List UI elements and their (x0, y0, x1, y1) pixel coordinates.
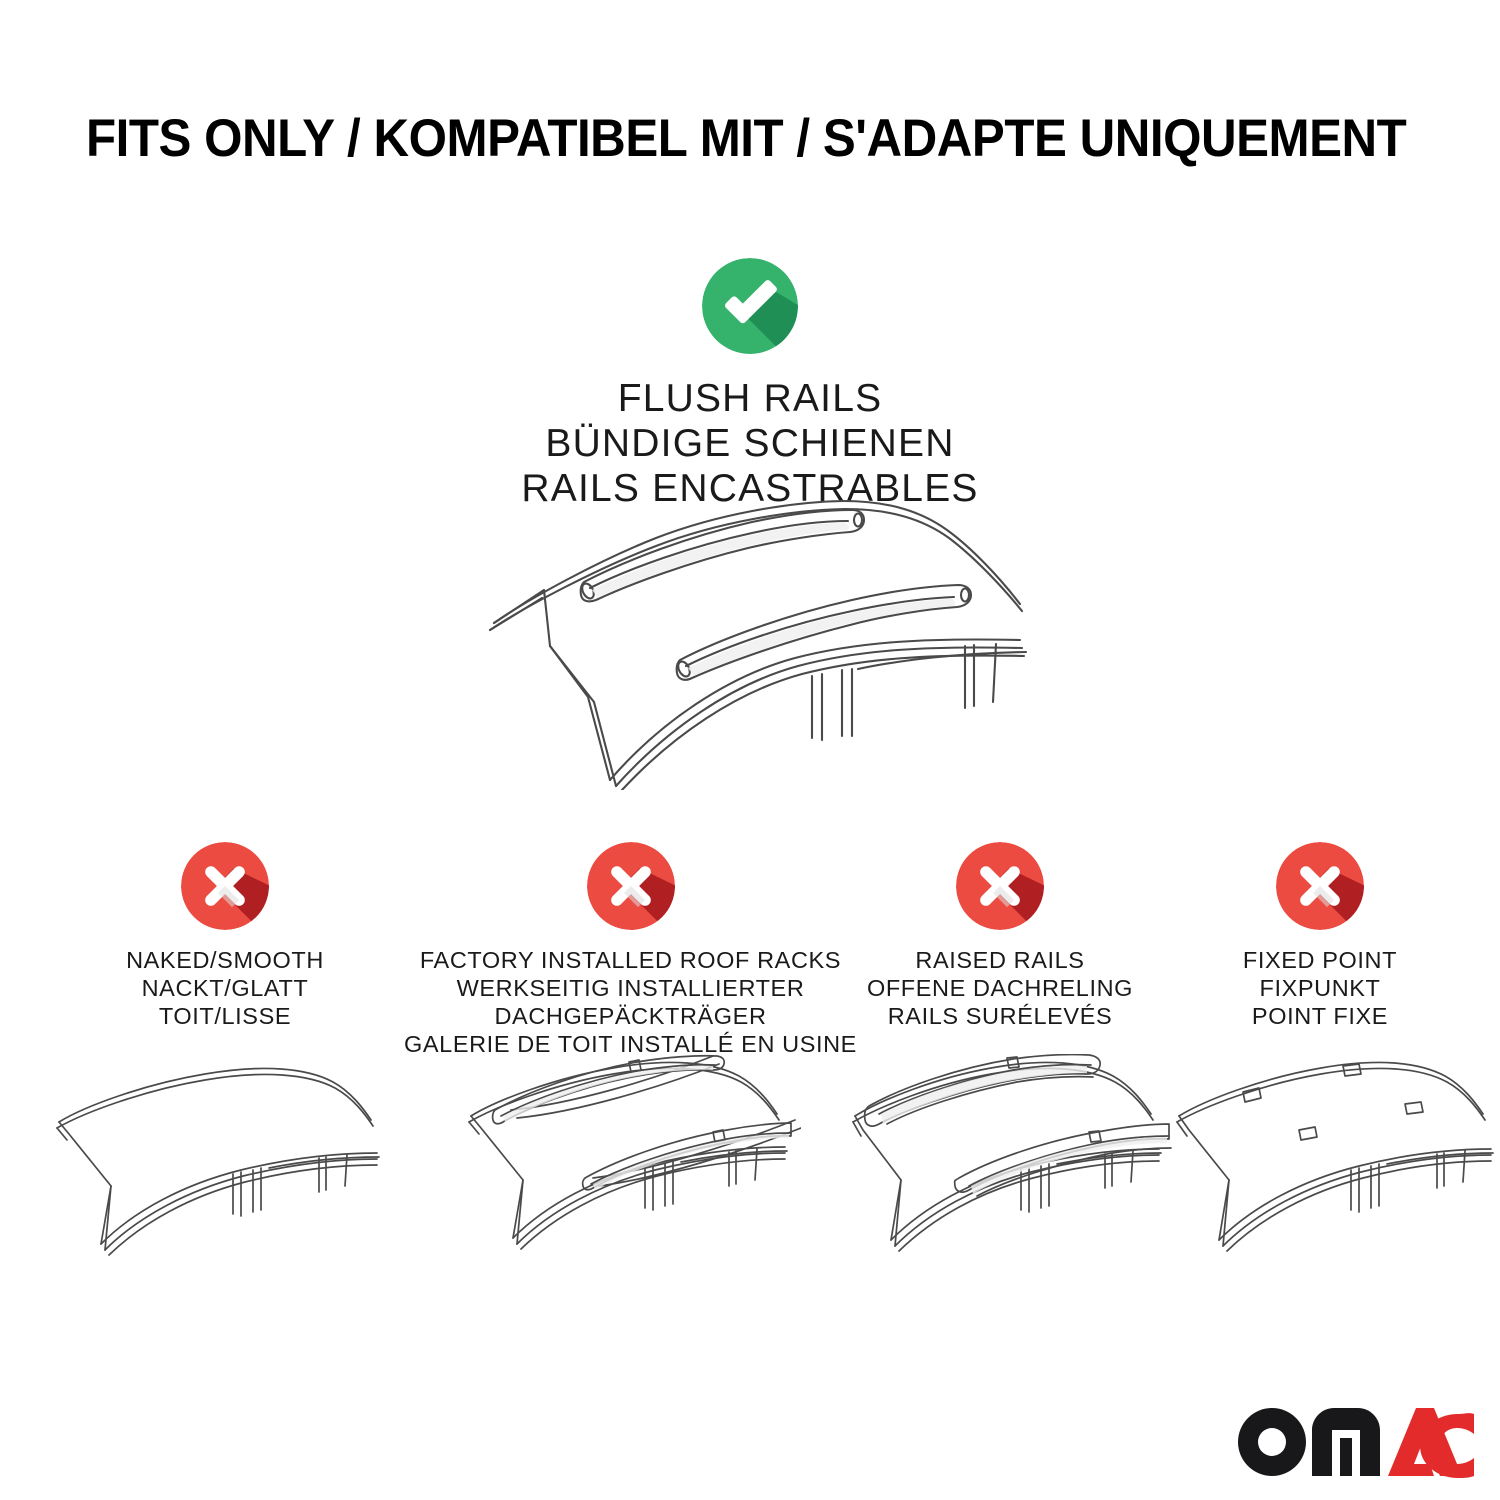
approved-label-line-2: BÜNDIGE SCHIENEN (0, 421, 1500, 466)
incompatible-label-line-2: OFFENE DACHRELING (835, 974, 1165, 1002)
incompatible-label: RAISED RAILS OFFENE DACHRELING RAILS SUR… (835, 946, 1165, 1030)
car-roof-raised-rails-illustration (835, 1054, 1165, 1289)
page-title: FITS ONLY / KOMPATIBEL MIT / S'ADAPTE UN… (86, 108, 1332, 170)
incompatible-label-line-2: FIXPUNKT (1165, 974, 1475, 1002)
x-circle-icon (1276, 842, 1364, 930)
check-circle-icon (702, 258, 798, 354)
incompatible-label: FIXED POINT FIXPUNKT POINT FIXE (1165, 946, 1475, 1030)
logo-letter-o (1238, 1408, 1306, 1476)
incompatible-item-naked-smooth: NAKED/SMOOTH NACKT/GLATT TOIT/LISSE (55, 842, 395, 1030)
incompatible-label-line-1: RAISED RAILS (835, 946, 1165, 974)
incompatible-label-line-2: WERKSEITIG INSTALLIERTER (398, 974, 863, 1002)
incompatible-label-line-1: FIXED POINT (1165, 946, 1475, 974)
approved-label-line-1: FLUSH RAILS (0, 376, 1500, 421)
incompatible-label-line-1: NAKED/SMOOTH (55, 946, 395, 974)
incompatible-label-line-1: FACTORY INSTALLED ROOF RACKS (398, 946, 863, 974)
incompatible-item-factory-racks: FACTORY INSTALLED ROOF RACKS WERKSEITIG … (398, 842, 863, 1058)
car-roof-fixed-point-illustration (1165, 1054, 1475, 1289)
x-circle-icon (587, 842, 675, 930)
incompatible-label-line-2: NACKT/GLATT (55, 974, 395, 1002)
approved-section: FLUSH RAILS BÜNDIGE SCHIENEN RAILS ENCAS… (0, 258, 1500, 511)
car-roof-flush-rails-illustration (0, 490, 1500, 790)
incompatible-label-line-3: DACHGEPÄCKTRÄGER (398, 1002, 863, 1030)
incompatible-label: FACTORY INSTALLED ROOF RACKS WERKSEITIG … (398, 946, 863, 1058)
car-roof-naked-illustration (55, 1054, 395, 1289)
x-circle-icon (956, 842, 1044, 930)
omac-logo (1238, 1406, 1474, 1478)
logo-letter-m-stem (1340, 1438, 1352, 1476)
incompatible-item-raised-rails: RAISED RAILS OFFENE DACHRELING RAILS SUR… (835, 842, 1165, 1030)
incompatible-label: NAKED/SMOOTH NACKT/GLATT TOIT/LISSE (55, 946, 395, 1030)
incompatible-section: NAKED/SMOOTH NACKT/GLATT TOIT/LISSE (0, 842, 1500, 1482)
incompatible-item-fixed-point: FIXED POINT FIXPUNKT POINT FIXE (1165, 842, 1475, 1030)
incompatible-label-line-3: TOIT/LISSE (55, 1002, 395, 1030)
incompatible-label-line-3: RAILS SURÉLEVÉS (835, 1002, 1165, 1030)
incompatible-label-line-3: POINT FIXE (1165, 1002, 1475, 1030)
x-circle-icon (181, 842, 269, 930)
car-roof-factory-racks-illustration (398, 1054, 863, 1289)
